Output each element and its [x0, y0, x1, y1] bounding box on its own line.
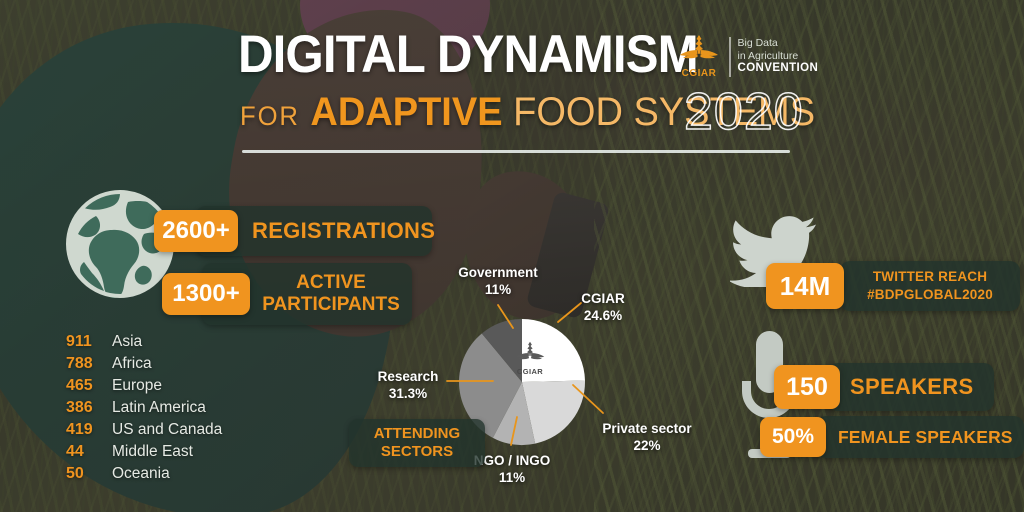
region-count: 788 — [66, 355, 112, 373]
pie-center-cgiar-text: CGIAR — [507, 367, 553, 376]
pie-label-government-name: Government — [458, 265, 538, 280]
list-item: 419 US and Canada — [66, 421, 366, 443]
header: DIGITAL DYNAMISM FOR ADAPTIVE FOOD SYSTE… — [0, 0, 1024, 170]
registrations-label: REGISTRATIONS — [252, 218, 435, 244]
region-count: 50 — [66, 465, 112, 483]
region-name: US and Canada — [112, 421, 222, 439]
cgiar-wheat-icon — [679, 34, 719, 62]
region-count: 465 — [66, 377, 112, 395]
pie-label-ngo-ingo-value: 11% — [457, 470, 567, 487]
twitter-hashtag-label: #BDPGLOBAL2020 — [867, 286, 993, 304]
female-speakers-plate: FEMALE SPEAKERS — [816, 416, 1024, 458]
list-item: 911 Asia — [66, 333, 366, 355]
logo-line-convention: CONVENTION — [738, 62, 819, 76]
region-name: Latin America — [112, 399, 206, 417]
region-name: Asia — [112, 333, 142, 351]
active-participants-label-line2: PARTICIPANTS — [262, 294, 400, 316]
region-count: 386 — [66, 399, 112, 417]
speakers-plate: SPEAKERS — [828, 363, 994, 411]
region-name: Oceania — [112, 465, 170, 483]
registrations-value-chip: 2600+ — [154, 210, 238, 252]
active-participants-label-line1: ACTIVE — [296, 272, 366, 294]
twitter-reach-label: TWITTER REACH — [873, 268, 987, 286]
cgiar-logo: CGIAR — [676, 34, 722, 79]
cgiar-logo-text: CGIAR — [676, 68, 722, 79]
attending-sectors-line1: ATTENDING — [374, 425, 460, 443]
right-stats-panel: TWITTER REACH #BDPGLOBAL2020 14M SPEAKER… — [720, 205, 1024, 505]
pie-label-ngo-ingo-name: NGO / INGO — [474, 453, 551, 468]
pie-label-private-sector-value: 22% — [587, 438, 707, 455]
region-name: Africa — [112, 355, 152, 373]
female-speakers-value-chip: 50% — [760, 417, 826, 457]
region-name: Middle East — [112, 443, 193, 461]
region-count: 911 — [66, 333, 112, 351]
pie-label-government: Government 11% — [443, 265, 553, 299]
speakers-label: SPEAKERS — [850, 374, 973, 400]
logo-line-big-data: Big Data — [738, 37, 819, 49]
subtitle-adaptive: ADAPTIVE — [310, 90, 502, 134]
region-breakdown-list: 911 Asia 788 Africa 465 Europe 386 Latin… — [66, 333, 366, 487]
subtitle-for: FOR — [240, 101, 300, 131]
cgiar-bigdata-logo: CGIAR Big Data in Agriculture CONVENTION — [676, 34, 818, 79]
twitter-reach-plate: TWITTER REACH #BDPGLOBAL2020 — [840, 261, 1020, 311]
logo-line-in-agriculture: in Agriculture — [738, 50, 819, 62]
pie-label-cgiar: CGIAR 24.6% — [553, 291, 653, 325]
page-title: DIGITAL DYNAMISM — [238, 28, 698, 81]
pie-center-cgiar-logo: CGIAR — [507, 341, 553, 376]
twitter-reach-value-chip: 14M — [766, 263, 844, 309]
logo-divider — [729, 37, 731, 77]
speakers-value-chip: 150 — [774, 365, 840, 409]
list-item: 50 Oceania — [66, 465, 366, 487]
attending-sectors-plate: ATTENDING SECTORS — [349, 419, 485, 467]
female-speakers-label: FEMALE SPEAKERS — [838, 427, 1013, 448]
cgiar-wheat-icon — [515, 341, 545, 362]
list-item: 788 Africa — [66, 355, 366, 377]
header-divider — [242, 150, 790, 153]
pie-label-private-sector: Private sector 22% — [587, 421, 707, 455]
convention-logo-text: Big Data in Agriculture CONVENTION — [738, 37, 819, 75]
pie-label-research: Research 31.3% — [355, 369, 461, 403]
region-count: 419 — [66, 421, 112, 439]
pie-label-private-sector-name: Private sector — [602, 421, 691, 436]
active-participants-value-chip: 1300+ — [162, 273, 250, 315]
pie-label-research-name: Research — [378, 369, 439, 384]
list-item: 386 Latin America — [66, 399, 366, 421]
region-name: Europe — [112, 377, 162, 395]
pie-label-government-value: 11% — [443, 282, 553, 299]
pie-label-cgiar-name: CGIAR — [581, 291, 625, 306]
list-item: 44 Middle East — [66, 443, 366, 465]
year-label: 2020 — [684, 86, 804, 138]
region-count: 44 — [66, 443, 112, 461]
pie-label-research-value: 31.3% — [355, 386, 461, 403]
attending-sectors-line2: SECTORS — [381, 443, 453, 461]
list-item: 465 Europe — [66, 377, 366, 399]
pie-label-cgiar-value: 24.6% — [553, 308, 653, 325]
